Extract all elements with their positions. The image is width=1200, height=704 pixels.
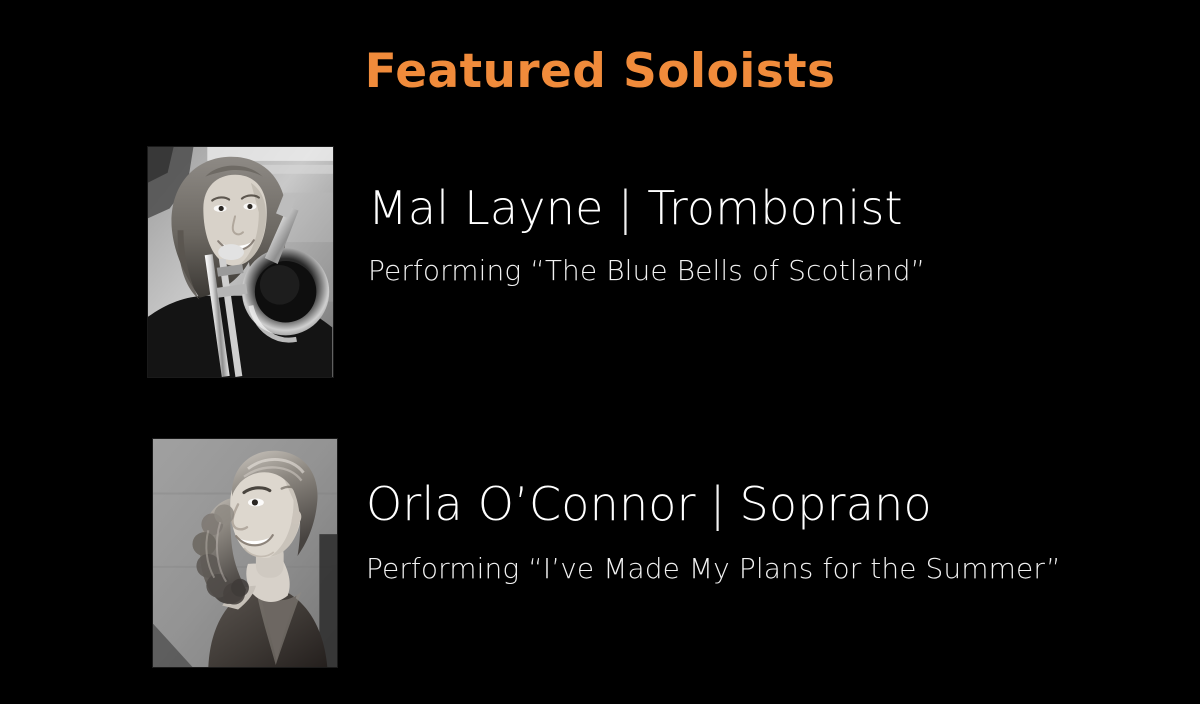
soloist-text-1: Mal Layne|Trombonist Performing “The Blu… [368,146,925,288]
soloist-name-line-1: Mal Layne|Trombonist [368,184,925,232]
page-title: Featured Soloists [0,46,1200,98]
name-role-separator-2: | [696,480,740,528]
soloist-photo-1 [147,146,334,378]
soloist-role-2: Soprano [739,477,931,531]
soloist-performing-1: Performing “The Blue Bells of Scotland” [368,254,925,288]
soloist-photo-2 [152,438,338,668]
name-role-separator-1: | [604,184,648,232]
soprano-portrait-icon [153,439,337,667]
soloist-role-1: Trombonist [647,181,902,235]
soloist-name-2: Orla O’Connor [366,477,696,531]
soloist-text-2: Orla O’Connor|Soprano Performing “I’ve M… [366,438,1061,586]
trombonist-portrait-icon [148,147,333,377]
slide-root: Featured Soloists [0,0,1200,704]
soloist-name-1: Mal Layne [368,181,604,235]
soloist-performing-2: Performing “I’ve Made My Plans for the S… [366,552,1061,586]
soloist-name-line-2: Orla O’Connor|Soprano [366,480,1061,528]
